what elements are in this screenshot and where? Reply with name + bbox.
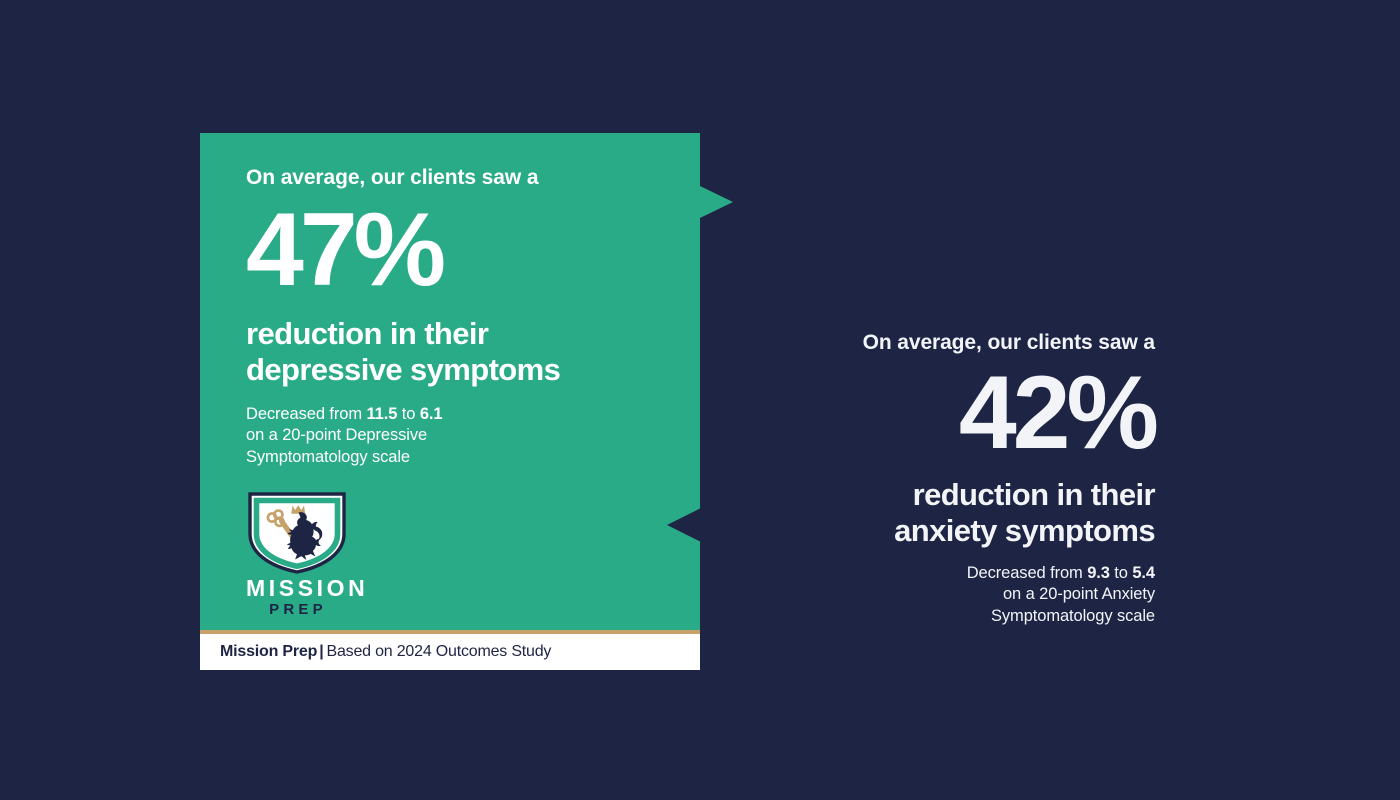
footer-attribution: Mission Prep|Based on 2024 Outcomes Stud…: [220, 643, 551, 661]
anxiety-headline-line1: reduction in their: [913, 477, 1155, 512]
depression-stat-card: On average, our clients saw a 47% reduct…: [200, 133, 700, 670]
anxiety-subnote-line2: on a 20-point Anxiety: [1003, 585, 1155, 603]
anxiety-eyebrow-text: On average, our clients saw a: [760, 330, 1155, 355]
depression-subnote: Decreased from 11.5 to 6.1 on a 20-point…: [246, 404, 676, 468]
depression-card-content: On average, our clients saw a 47% reduct…: [246, 165, 676, 468]
depression-eyebrow-text: On average, our clients saw a: [246, 165, 676, 190]
depression-baseline-value: 11.5: [366, 405, 397, 423]
depression-headline: reduction in their depressive symptoms: [246, 316, 676, 388]
anxiety-baseline-value: 9.3: [1087, 564, 1110, 582]
anxiety-subnote: Decreased from 9.3 to 5.4 on a 20-point …: [760, 563, 1155, 627]
card-pointer-triangle-right: [700, 186, 733, 218]
footer-separator: |: [319, 643, 323, 660]
depression-subnote-line2: on a 20-point Depressive: [246, 426, 427, 444]
depression-subnote-line3: Symptomatology scale: [246, 448, 410, 466]
shield-icon: [246, 490, 348, 574]
mission-prep-logo: MISSION PREP: [246, 490, 361, 617]
logo-wordmark: MISSION: [246, 577, 361, 600]
anxiety-subnote-prefix: Decreased from: [967, 564, 1087, 582]
logo-submark: PREP: [246, 602, 350, 617]
depression-headline-line1: reduction in their: [246, 316, 488, 351]
card-footer-bar: Mission Prep|Based on 2024 Outcomes Stud…: [200, 634, 700, 670]
depression-subnote-prefix: Decreased from: [246, 405, 366, 423]
depression-percentage: 47%: [246, 200, 676, 302]
anxiety-stat-panel: On average, our clients saw a 42% reduct…: [760, 330, 1155, 627]
anxiety-headline: reduction in their anxiety symptoms: [760, 477, 1155, 549]
anxiety-subnote-line3: Symptomatology scale: [991, 607, 1155, 625]
footer-source-text: Based on 2024 Outcomes Study: [326, 643, 551, 660]
depression-card-body: On average, our clients saw a 47% reduct…: [200, 133, 700, 630]
anxiety-subnote-mid: to: [1110, 564, 1133, 582]
depression-post-value: 6.1: [420, 405, 443, 423]
anxiety-post-value: 5.4: [1132, 564, 1155, 582]
card-notch-triangle-left: [667, 508, 701, 542]
footer-brand-name: Mission Prep: [220, 643, 317, 660]
anxiety-headline-line2: anxiety symptoms: [894, 513, 1155, 548]
depression-subnote-mid: to: [397, 405, 420, 423]
infographic-canvas: On average, our clients saw a 47% reduct…: [0, 0, 1400, 800]
depression-headline-line2: depressive symptoms: [246, 352, 560, 387]
anxiety-percentage: 42%: [760, 363, 1155, 465]
